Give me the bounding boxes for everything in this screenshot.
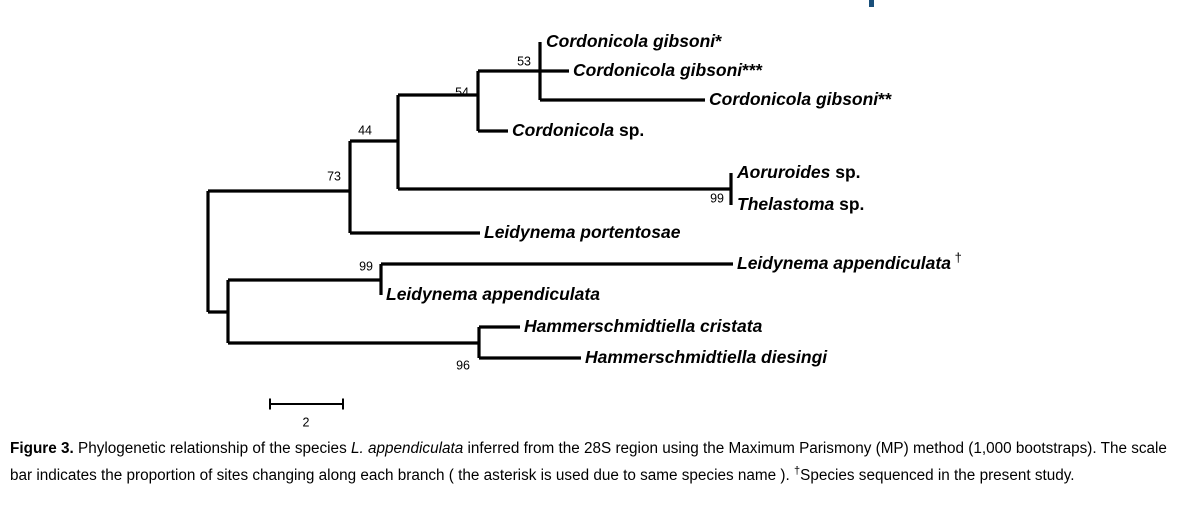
bootstrap-value-node-44: 44 (358, 123, 372, 137)
taxon-label-leidynema-appendiculata: Leidynema appendiculata (386, 284, 600, 304)
taxon-label-hammerschmidtiella-diesingi: Hammerschmidtiella diesingi (585, 347, 828, 367)
taxon-label-leidynema-portentosae: Leidynema portentosae (484, 222, 681, 242)
scale-bar: 2 (270, 399, 343, 430)
taxon-label-cordonicola-sp: Cordonicola sp. (512, 120, 644, 140)
bootstrap-value-node-73: 73 (327, 169, 341, 183)
bootstrap-value-node-99-thelastoma: 99 (710, 191, 724, 205)
bootstrap-value-node-96: 96 (456, 358, 470, 372)
caption-text-part1: Phylogenetic relationship of the species (74, 440, 351, 457)
taxon-label-cordonicola-gibsoni-3: Cordonicola gibsoni*** (573, 60, 763, 80)
phylogenetic-tree: Cordonicola gibsoni*Cordonicola gibsoni*… (0, 0, 1192, 440)
caption-text-part3: Species sequenced in the present study. (800, 467, 1074, 484)
tree-svg: Cordonicola gibsoni*Cordonicola gibsoni*… (0, 0, 1192, 440)
tree-branches (208, 42, 733, 358)
taxon-label-aoruroides-sp: Aoruroides sp. (736, 162, 861, 182)
figure-caption: Figure 3. Phylogenetic relationship of t… (10, 437, 1182, 487)
figure-number: Figure 3. (10, 440, 74, 457)
bootstrap-value-node-54: 54 (455, 85, 469, 99)
taxon-label-hammerschmidtiella-cristata: Hammerschmidtiella cristata (524, 316, 763, 336)
taxon-label-leidynema-appendiculata-new: Leidynema appendiculata † (737, 250, 962, 272)
tree-taxon-labels: Cordonicola gibsoni*Cordonicola gibsoni*… (386, 31, 962, 367)
taxon-label-thelastoma-sp: Thelastoma sp. (737, 194, 864, 214)
taxon-label-cordonicola-gibsoni-1: Cordonicola gibsoni* (546, 31, 722, 51)
figure-container: Cordonicola gibsoni*Cordonicola gibsoni*… (0, 0, 1192, 515)
scale-bar-label: 2 (303, 415, 310, 429)
bootstrap-value-node-99-leidynema: 99 (359, 259, 373, 273)
bootstrap-value-node-53: 53 (517, 54, 531, 68)
taxon-label-cordonicola-gibsoni-2: Cordonicola gibsoni** (709, 89, 892, 109)
caption-species-name: L. appendiculata (351, 440, 463, 457)
